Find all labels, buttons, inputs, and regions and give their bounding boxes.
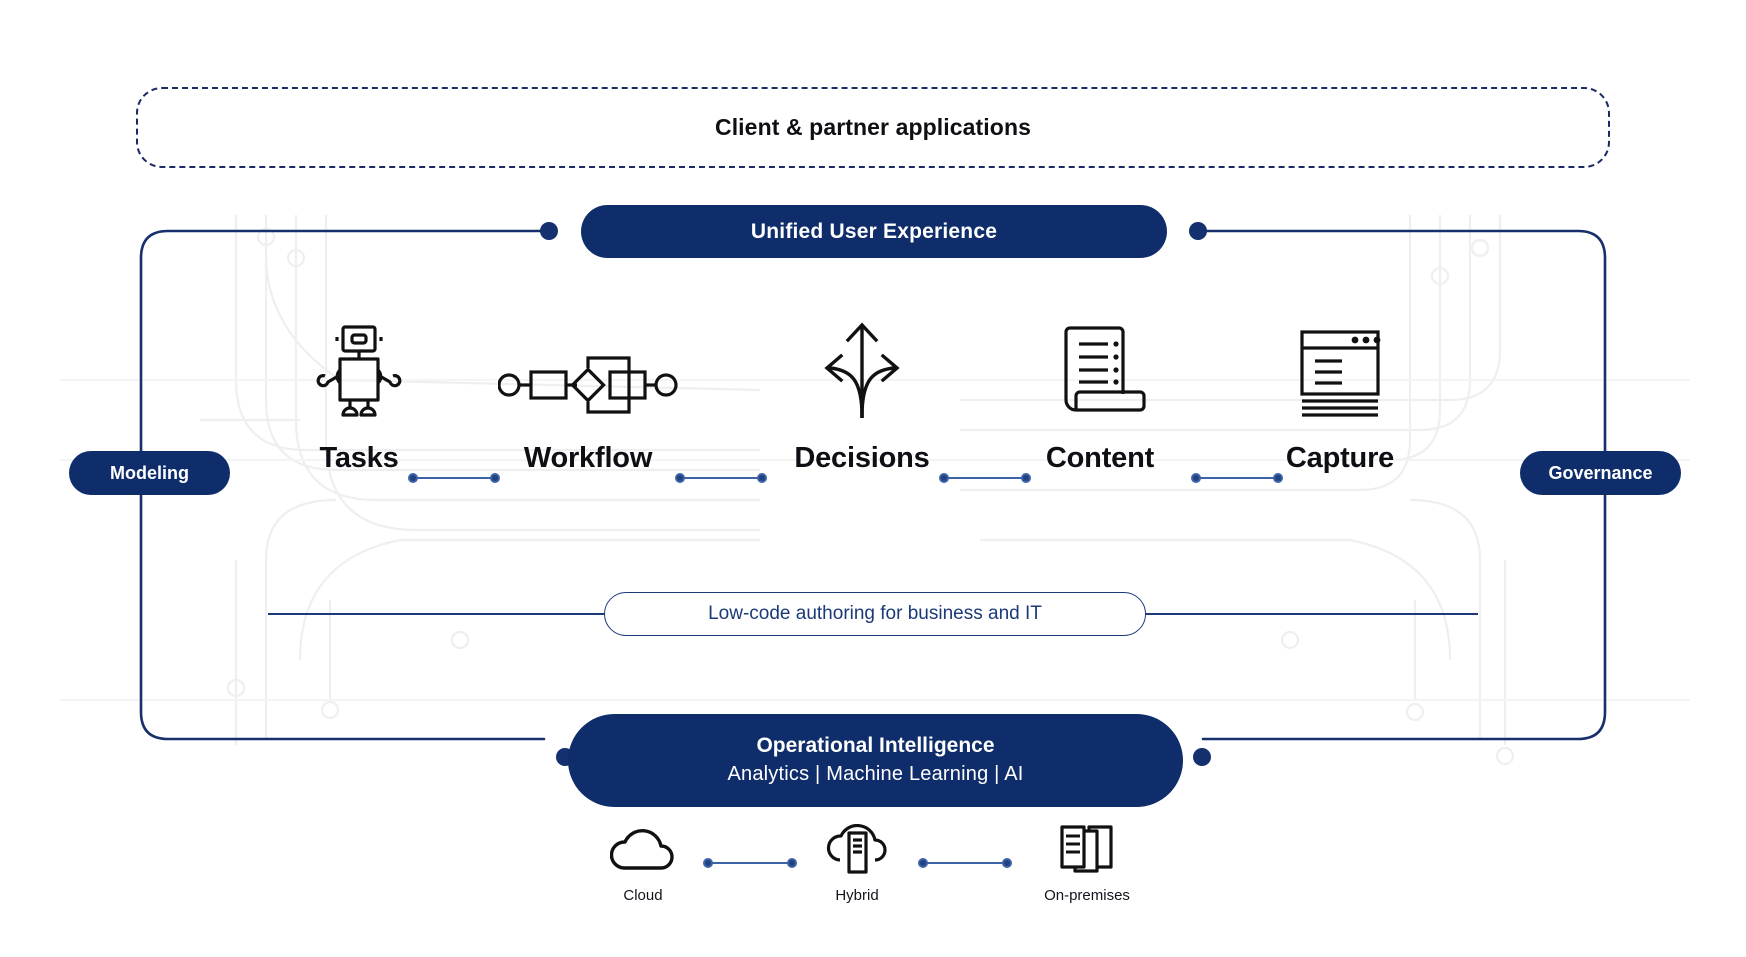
deployment-on-premises[interactable]: On-premises (1012, 823, 1162, 904)
modeling-pill[interactable]: Modeling (69, 451, 230, 495)
client-partner-applications-banner: Client & partner applications (136, 87, 1610, 168)
document-scroll-icon (1054, 318, 1146, 418)
banner-label: Client & partner applications (715, 114, 1031, 141)
robot-icon (316, 318, 402, 418)
capability-label: Workflow (524, 442, 652, 475)
capability-content[interactable]: Content (1000, 318, 1200, 475)
operational-intelligence-title: Operational Intelligence (756, 733, 994, 759)
server-stack-icon (1059, 823, 1115, 875)
operational-intelligence-subtitle: Analytics | Machine Learning | AI (727, 761, 1023, 788)
capability-label: Content (1046, 442, 1154, 475)
deployment-hybrid[interactable]: Hybrid (782, 823, 932, 904)
capability-label: Decisions (794, 442, 929, 475)
governance-label: Governance (1548, 463, 1652, 484)
capability-label: Capture (1286, 442, 1394, 475)
decision-arrows-icon (821, 318, 903, 418)
cloud-icon (610, 823, 676, 875)
capability-capture[interactable]: Capture (1240, 318, 1440, 475)
deployment-label: Cloud (623, 887, 662, 904)
deployment-label: Hybrid (835, 887, 878, 904)
deployment-cloud[interactable]: Cloud (568, 823, 718, 904)
operational-intelligence-pill[interactable]: Operational Intelligence Analytics | Mac… (568, 714, 1183, 807)
low-code-authoring-label: Low-code authoring for business and IT (708, 603, 1042, 625)
diagram-canvas: Client & partner applications Unified Us… (0, 0, 1746, 957)
governance-pill[interactable]: Governance (1520, 451, 1681, 495)
unified-user-experience-label: Unified User Experience (751, 220, 997, 244)
modeling-label: Modeling (110, 463, 189, 484)
capability-label: Tasks (319, 442, 398, 475)
browser-window-icon (1298, 318, 1382, 418)
workflow-icon (498, 318, 678, 418)
capability-workflow[interactable]: Workflow (488, 318, 688, 475)
low-code-authoring-pill[interactable]: Low-code authoring for business and IT (604, 592, 1146, 636)
unified-user-experience-pill[interactable]: Unified User Experience (581, 205, 1167, 258)
capability-tasks[interactable]: Tasks (259, 318, 459, 475)
deployment-label: On-premises (1044, 887, 1130, 904)
capability-decisions[interactable]: Decisions (762, 318, 962, 475)
hybrid-cloud-server-icon (824, 823, 890, 875)
